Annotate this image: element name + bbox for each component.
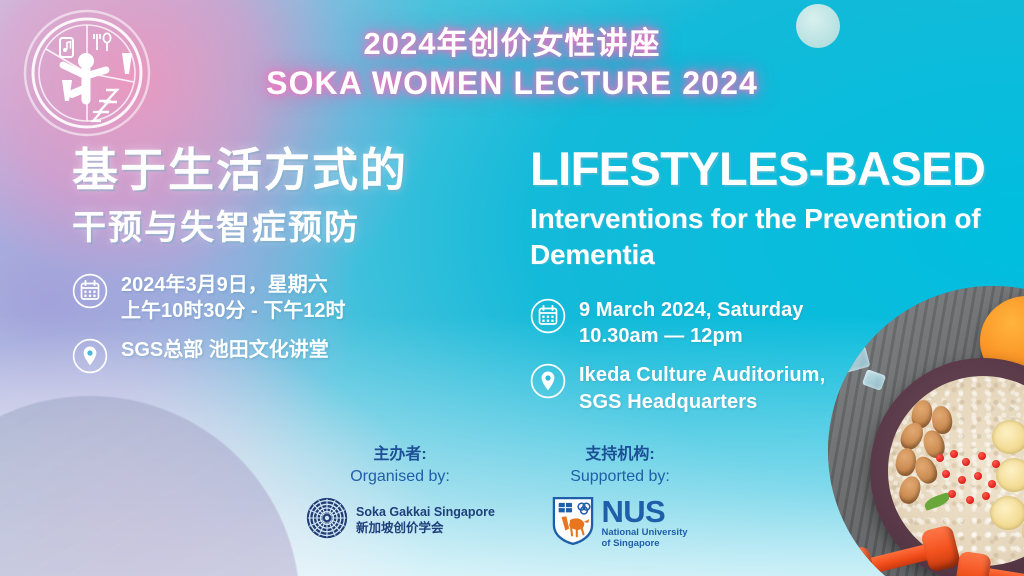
red-currant (942, 470, 950, 478)
location-pin-icon (530, 363, 566, 399)
headline-english-subtitle: Interventions for the Prevention of Deme… (530, 201, 1000, 273)
red-currant (958, 476, 966, 484)
english-details: 9 March 2024, Saturday 10.30am — 12pm Ik… (530, 297, 1000, 416)
nus-wordmark: NUS National University of Singapore (601, 498, 687, 549)
nus-crest-icon (552, 496, 594, 551)
calendar-icon (72, 273, 108, 309)
red-currant (988, 480, 996, 488)
nus-name-line2: of Singapore (601, 538, 687, 549)
detail-line: Ikeda Culture Auditorium, (579, 362, 825, 389)
red-currant (982, 492, 990, 500)
detail-line: 上午10时30分 - 下午12时 (121, 298, 346, 325)
header-title-english: SOKA WOMEN LECTURE 2024 (0, 65, 1024, 102)
organiser-label-chinese: 主办者: (300, 445, 500, 466)
headline-chinese-line2: 干预与失智症预防 (72, 209, 522, 248)
chinese-column: 基于生活方式的 干预与失智症预防 (72, 145, 522, 386)
red-currant (962, 458, 970, 466)
nus-logo: NUS National University of Singapore (520, 496, 720, 551)
headline-english-line2: Interventions for the (530, 203, 797, 234)
english-column: LIFESTYLES-BASED Interventions for the P… (530, 145, 1000, 428)
detail-line: 10.30am — 12pm (579, 323, 804, 350)
soka-gakkai-name-en: Soka Gakkai Singapore (356, 505, 495, 521)
detail-line: 2024年3月9日，星期六 (121, 272, 346, 299)
detail-row-date-chinese: 2024年3月9日，星期六 上午10时30分 - 下午12时 (72, 272, 522, 326)
soka-gakkai-mandala-icon (305, 496, 349, 545)
nus-acronym: NUS (601, 498, 687, 527)
header-title-chinese: 2024年创价女性讲座 (0, 26, 1024, 62)
organiser-block: 主办者: Organised by: (300, 445, 500, 551)
nus-name-line1: National University (601, 527, 687, 538)
soka-gakkai-wordmark: Soka Gakkai Singapore 新加坡创价学会 (356, 505, 495, 537)
red-currant (974, 472, 982, 480)
chinese-details: 2024年3月9日，星期六 上午10时30分 - 下午12时 SGS总部 池田文… (72, 272, 522, 375)
calendar-icon (530, 298, 566, 334)
dumbbell-bar (867, 544, 931, 575)
detail-line: SGS总部 池田文化讲堂 (121, 337, 329, 364)
detail-text-date-english: 9 March 2024, Saturday 10.30am — 12pm (579, 297, 804, 351)
headline-chinese-line1: 基于生活方式的 (72, 145, 522, 197)
detail-text-date-chinese: 2024年3月9日，星期六 上午10时30分 - 下午12时 (121, 272, 346, 326)
location-pin-icon (72, 338, 108, 374)
detail-line: 9 March 2024, Saturday (579, 297, 804, 324)
dumbbell-head (954, 551, 992, 576)
organiser-label-english: Organised by: (300, 466, 500, 488)
soka-gakkai-name-cn: 新加坡创价学会 (356, 520, 495, 536)
red-currant (966, 496, 974, 504)
detail-row-date-english: 9 March 2024, Saturday 10.30am — 12pm (530, 297, 1000, 351)
detail-text-venue-chinese: SGS总部 池田文化讲堂 (121, 337, 329, 364)
headline-english-line1: LIFESTYLES-BASED (530, 145, 1000, 192)
poster-header: 2024年创价女性讲座 SOKA WOMEN LECTURE 2024 (0, 26, 1024, 102)
supporter-label-english: Supported by: (520, 466, 720, 488)
supporter-label-chinese: 支持机构: (520, 445, 720, 466)
supporter-block: 支持机构: Supported by: (520, 445, 720, 551)
red-currant (992, 460, 1000, 468)
soka-gakkai-logo: Soka Gakkai Singapore 新加坡创价学会 (300, 496, 500, 545)
detail-row-venue-english: Ikeda Culture Auditorium, SGS Headquarte… (530, 362, 1000, 416)
detail-line: SGS Headquarters (579, 389, 825, 416)
red-currant (978, 452, 986, 460)
red-currant (950, 450, 958, 458)
poster-footer: 主办者: Organised by: (300, 445, 720, 551)
detail-row-venue-chinese: SGS总部 池田文化讲堂 (72, 337, 522, 374)
detail-text-venue-english: Ikeda Culture Auditorium, SGS Headquarte… (579, 362, 825, 416)
red-currant (936, 454, 944, 462)
event-poster: 2024年创价女性讲座 SOKA WOMEN LECTURE 2024 基于生活… (0, 0, 1024, 576)
